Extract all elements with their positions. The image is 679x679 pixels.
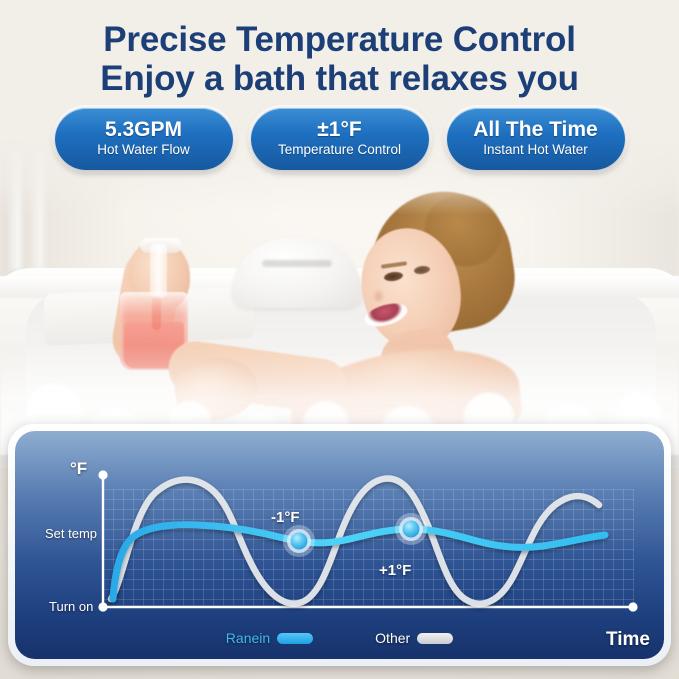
legend-label: Ranein xyxy=(226,630,270,646)
origin-cap xyxy=(98,602,107,611)
rolled-towel xyxy=(232,238,362,308)
title-line-2: Enjoy a bath that relaxes you xyxy=(0,58,679,97)
nose xyxy=(372,288,385,302)
header: Precise Temperature Control Enjoy a bath… xyxy=(0,0,679,96)
marker-minus-one xyxy=(283,525,315,557)
soap-stream xyxy=(152,296,161,330)
pill-caption: Instant Hot Water xyxy=(483,141,588,159)
legend-swatch-ranein xyxy=(277,633,313,644)
legend-label: Other xyxy=(375,630,410,646)
chart-canvas: °F Set temp Turn on Time -1°F +1°F Ranei… xyxy=(15,431,664,659)
temperature-chart-panel: °F Set temp Turn on Time -1°F +1°F Ranei… xyxy=(8,424,671,666)
legend-item-other[interactable]: Other xyxy=(375,630,453,646)
title-line-1: Precise Temperature Control xyxy=(0,0,679,58)
annotation-plus-one: +1°F xyxy=(379,562,411,579)
marker-plus-one xyxy=(395,513,427,545)
page-title: Precise Temperature Control Enjoy a bath… xyxy=(0,0,679,96)
pill-value: 5.3GPM xyxy=(105,119,182,141)
feature-pill-flow[interactable]: 5.3GPM Hot Water Flow xyxy=(55,108,233,170)
pill-caption: Temperature Control xyxy=(278,141,401,159)
y-axis-label: °F xyxy=(70,459,87,479)
y-tick-turn-on: Turn on xyxy=(49,599,93,614)
feature-pill-accuracy[interactable]: ±1°F Temperature Control xyxy=(251,108,429,170)
y-tick-set-temp: Set temp xyxy=(45,526,97,541)
annotation-minus-one: -1°F xyxy=(271,509,300,526)
legend-swatch-other xyxy=(417,633,453,644)
pill-value: All The Time xyxy=(473,119,597,141)
legend-item-ranein[interactable]: Ranein xyxy=(226,630,313,646)
promo-banner: Precise Temperature Control Enjoy a bath… xyxy=(0,0,679,679)
chart-plot xyxy=(15,431,664,659)
dispenser-pump xyxy=(150,244,167,298)
x-axis-cap xyxy=(628,602,637,611)
pill-caption: Hot Water Flow xyxy=(97,141,190,159)
feature-pill-group: 5.3GPM Hot Water Flow ±1°F Temperature C… xyxy=(0,108,679,170)
feature-pill-availability[interactable]: All The Time Instant Hot Water xyxy=(447,108,625,170)
y-axis-cap xyxy=(98,470,107,479)
chart-legend: Ranein Other xyxy=(15,630,664,646)
pill-value: ±1°F xyxy=(317,119,361,141)
